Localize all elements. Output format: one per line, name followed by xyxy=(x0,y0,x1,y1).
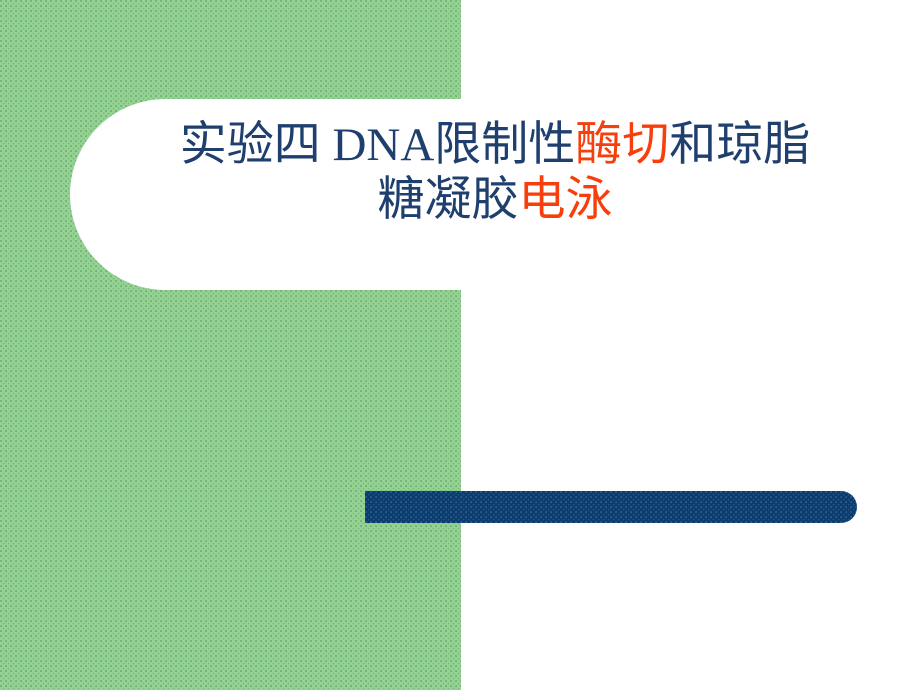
title-line-2: 糖凝胶电泳 xyxy=(70,173,920,228)
title-seg-highlight-2: 电泳 xyxy=(519,174,613,226)
slide-title: 实验四 DNA限制性酶切和琼脂 糖凝胶电泳 xyxy=(70,118,920,229)
title-seg-dna: DNA xyxy=(332,119,434,171)
title-line-1: 实验四 DNA限制性酶切和琼脂 xyxy=(70,118,920,173)
accent-bar-shape xyxy=(365,491,857,523)
title-seg-highlight-1: 酶切 xyxy=(575,119,669,171)
title-seg-4: 糖凝胶 xyxy=(378,174,519,226)
slide-canvas: 实验四 DNA限制性酶切和琼脂 糖凝胶电泳 xyxy=(0,0,920,690)
title-seg-2: 限制性 xyxy=(434,119,575,171)
title-seg-3: 和琼脂 xyxy=(669,119,810,171)
title-seg-1: 实验四 xyxy=(180,119,333,171)
